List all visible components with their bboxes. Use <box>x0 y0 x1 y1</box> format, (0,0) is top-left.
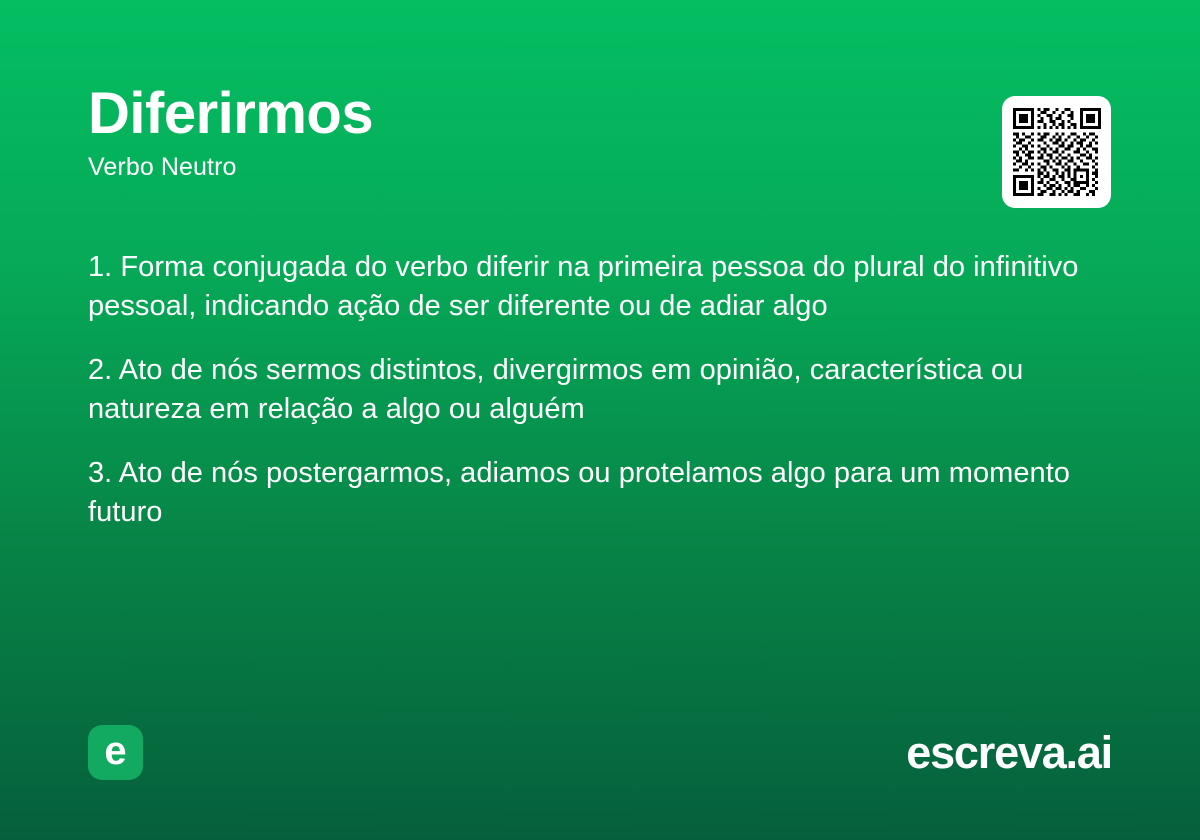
list-item: 3. Ato de nós postergarmos, adiamos ou p… <box>88 454 1108 532</box>
word-class-label: Verbo Neutro <box>88 152 1112 182</box>
list-item: 1. Forma conjugada do verbo diferir na p… <box>88 248 1108 326</box>
list-item: 2. Ato de nós sermos distintos, divergir… <box>88 351 1108 429</box>
qr-code-icon <box>1013 108 1101 196</box>
card-footer: e escreva.ai <box>88 724 1112 780</box>
brand-wordmark: escreva.ai <box>906 730 1112 775</box>
definition-list: 1. Forma conjugada do verbo diferir na p… <box>88 248 1108 532</box>
qr-code-card[interactable] <box>1002 96 1111 208</box>
card-header: Diferirmos Verbo Neutro <box>88 84 1112 182</box>
dictionary-card: Diferirmos Verbo Neutro <box>0 0 1200 840</box>
brand-logo-letter: e <box>104 731 126 771</box>
brand-logo-badge: e <box>88 725 143 780</box>
page-title: Diferirmos <box>88 84 1112 144</box>
